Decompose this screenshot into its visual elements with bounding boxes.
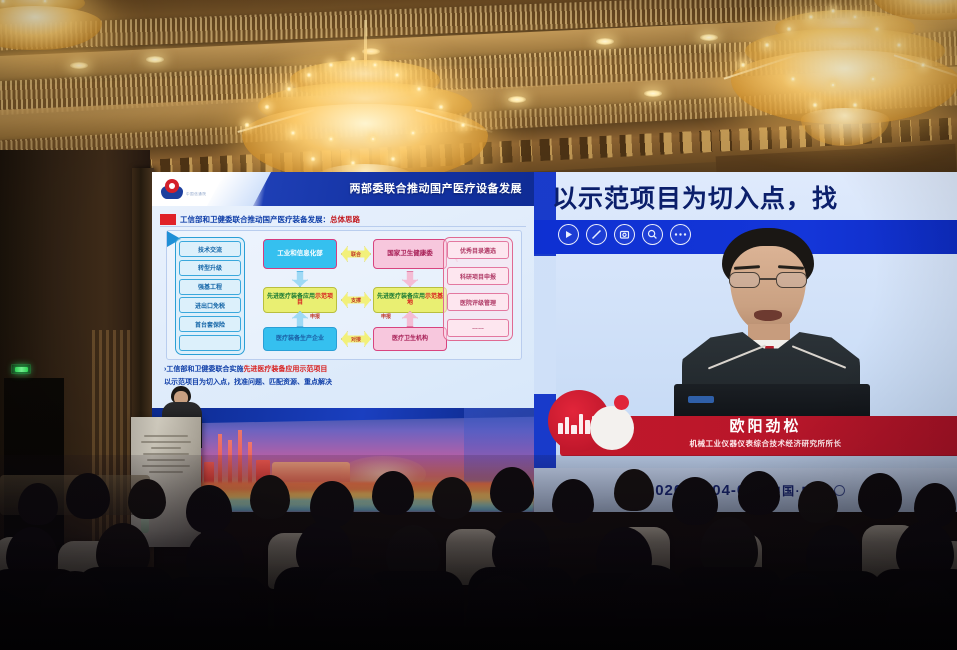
chandelier-candle (920, 62, 926, 68)
chandelier-candle (350, 160, 356, 166)
ceiling-downlight (508, 96, 526, 103)
chandelier-candle (764, 42, 770, 48)
slide-header-bar: 两部委联合推动国产医疗设备发展 (152, 172, 534, 206)
audience-shadow-wash (0, 455, 957, 650)
slide-bullet-2: 以示范项目为切入点，找准问题、匹配资源、重点解决 (164, 377, 524, 387)
chandelier-candle (370, 136, 376, 142)
arrow-middle-label: 支撑 (351, 297, 361, 304)
pen-icon[interactable] (586, 224, 607, 245)
conference-hall-photo: 两部委联合推动国产医疗设备发展 中国信通院 工信部和卫健委联合推动国产医疗装备发… (0, 0, 957, 650)
chandelier-candle (394, 72, 400, 78)
speaker-mouth (754, 310, 782, 321)
left-item-3: 进出口免税 (179, 297, 241, 313)
arrow-bottom-label: 对接 (351, 336, 361, 343)
ceiling-downlight (700, 34, 718, 41)
play-icon[interactable] (558, 224, 579, 245)
chandelier-bowl (0, 6, 102, 50)
ceiling-downlight (146, 56, 164, 63)
left-item-4: 首台套保险 (179, 316, 241, 332)
podium-line (144, 435, 188, 437)
chandelier-candle (460, 122, 466, 128)
chandelier-bowl (873, 0, 957, 20)
right-item-2: 医院评级管理 (447, 293, 509, 311)
logo-white-dot (169, 183, 175, 189)
chandelier-candle (830, 8, 836, 14)
chandelier-candle (790, 76, 796, 82)
chandelier-main (230, 60, 500, 180)
chandelier-candle (740, 62, 746, 68)
demo-project-main: 应用 (303, 294, 315, 300)
search-icon[interactable] (642, 224, 663, 245)
left-item-0: 技术交流 (179, 241, 241, 257)
arrow-enterprise-medical-icon: 对接 (341, 331, 371, 347)
box-demo-project: 先进医疗装备应用示范项目 (263, 287, 337, 313)
video-player-toolbar[interactable] (558, 224, 691, 245)
chandelier-far-left (0, 0, 110, 60)
section-title-accent: 总体思路 (330, 215, 360, 224)
chandelier-right (720, 10, 957, 130)
arrow-right-up-label: 申报 (381, 313, 391, 320)
slide-bullets: ›工信部和卫健委联合实施先进医疗装备应用示范项目 以示范项目为切入点，找准问题、… (164, 364, 524, 387)
left-item-5 (179, 335, 241, 351)
right-item-3: …… (447, 319, 509, 337)
speaker-name: 欧阳劲松 (534, 415, 957, 436)
section-title-text: 工信部和卫健委联合推动国产医疗装备发展：总体思路 (180, 214, 360, 225)
chandelier-candle (416, 86, 422, 92)
speaker-glasses (727, 272, 809, 288)
feed-headline-row: 以示范项目为切入点，找 (534, 174, 957, 220)
chandelier-candle (830, 82, 836, 88)
audience-seating (0, 455, 957, 650)
slide-header-title: 两部委联合推动国产医疗设备发展 (350, 180, 523, 196)
right-item-1: 科研项目申报 (447, 267, 509, 285)
chandelier-candle (328, 62, 334, 68)
chandelier-candle (264, 104, 270, 110)
chandelier-candle (870, 76, 876, 82)
section-title-underline (160, 226, 526, 227)
arrow-project-base-icon: 支撑 (341, 292, 371, 308)
chandelier-candle (286, 86, 292, 92)
chandelier-candle (438, 104, 444, 110)
podium-line (151, 447, 181, 449)
arrow-left-up-label: 申报 (310, 313, 320, 320)
diagram-right-column: 优秀目录遴选 科研项目申报 医院评级管理 …… (443, 237, 513, 341)
bullet-1-accent: 先进医疗装备应用示范项目 (243, 366, 327, 373)
logo-subtext: 中国信通院 (186, 192, 207, 197)
ceiling-downlight (70, 62, 88, 69)
glasses-lens-left (729, 272, 760, 288)
arrow-industry-down-icon (292, 271, 308, 287)
slide-flow-diagram: 技术交流 转型升级 强基工程 进出口免税 首台套保险 工业和信息化部 国家卫生健… (166, 230, 522, 360)
arrow-top-label: 联合 (351, 251, 361, 258)
bullet-1-prefix: ›工信部和卫健委联合实施 (164, 366, 243, 373)
chandelier-candle (290, 130, 296, 136)
slide-section-title: 工信部和卫健委联合推动国产医疗装备发展：总体思路 (160, 212, 526, 226)
box-enterprise: 医疗装备生产企业 (263, 327, 337, 351)
exit-sign (11, 364, 31, 374)
ceiling-downlight (596, 38, 614, 45)
arrow-medical-up-icon (402, 311, 418, 327)
box-demo-project-text: 先进医疗装备应用示范项目 (265, 294, 335, 307)
demo-base-main: 应用 (413, 294, 425, 300)
feed-headline: 以示范项目为切入点，找 (552, 179, 838, 215)
arrow-ministries-joint-icon: 联合 (341, 246, 371, 262)
chandelier-far-right (868, 0, 957, 26)
left-item-2: 强基工程 (179, 279, 241, 295)
chandelier-candle (350, 56, 356, 62)
chandelier-candle (812, 102, 818, 108)
podium-line (141, 441, 191, 443)
section-title-marker (160, 214, 176, 225)
live-video-feed: 以示范项目为切入点，找 (534, 172, 957, 468)
chandelier-candle (328, 136, 334, 142)
chandelier-candle (808, 14, 814, 20)
chandelier-candle (244, 122, 250, 128)
glasses-lens-right (776, 272, 807, 288)
box-medical-institution: 医疗卫生机构 (373, 327, 447, 351)
left-item-1: 转型升级 (179, 260, 241, 276)
demo-project-prefix: 先进医疗装备 (267, 294, 303, 300)
box-demo-base: 先进医疗装备应用示范基地 (373, 287, 447, 313)
chandelier-candle (786, 26, 792, 32)
section-title-main: 工信部和卫健委联合推动国产医疗装备发展： (180, 215, 330, 224)
chandelier-candle (852, 14, 858, 20)
arrow-enterprise-up-icon (292, 311, 308, 327)
chandelier-candle (896, 42, 902, 48)
chandelier-candle (410, 130, 416, 136)
lower-third-red-dot (614, 395, 629, 410)
chandelier-candle (390, 156, 396, 162)
glasses-bridge (760, 278, 776, 280)
screenshot-icon[interactable] (614, 224, 635, 245)
slide-bullet-1: ›工信部和卫健委联合实施先进医疗装备应用示范项目 (164, 364, 524, 374)
chandelier-candle (874, 26, 880, 32)
right-item-0: 优秀目录遴选 (447, 241, 509, 259)
chandelier-candle (310, 156, 316, 162)
ceiling-downlight (644, 90, 662, 97)
chandelier-candle (306, 72, 312, 78)
diagram-left-column: 技术交流 转型升级 强基工程 进出口免税 首台套保险 (175, 237, 245, 355)
exit-sign-light (15, 367, 28, 372)
presentation-slide: 两部委联合推动国产医疗设备发展 中国信通院 工信部和卫健委联合推动国产医疗装备发… (152, 172, 534, 408)
organization-logo-icon (161, 179, 183, 199)
lower-third-banner: 欧阳劲松 机械工业仪器仪表综合技术经济研究所所长 (534, 400, 957, 456)
chandelier-candle (852, 102, 858, 108)
chandelier-candle (372, 62, 378, 68)
box-ministry-industry: 工业和信息化部 (263, 239, 337, 269)
arrow-health-down-icon (402, 271, 418, 287)
demo-base-prefix: 先进医疗装备 (377, 294, 413, 300)
box-ministry-health: 国家卫生健康委 (373, 239, 447, 269)
speaker-title: 机械工业仪器仪表综合技术经济研究所所长 (534, 438, 957, 449)
box-demo-base-text: 先进医疗装备应用示范基地 (375, 294, 445, 307)
